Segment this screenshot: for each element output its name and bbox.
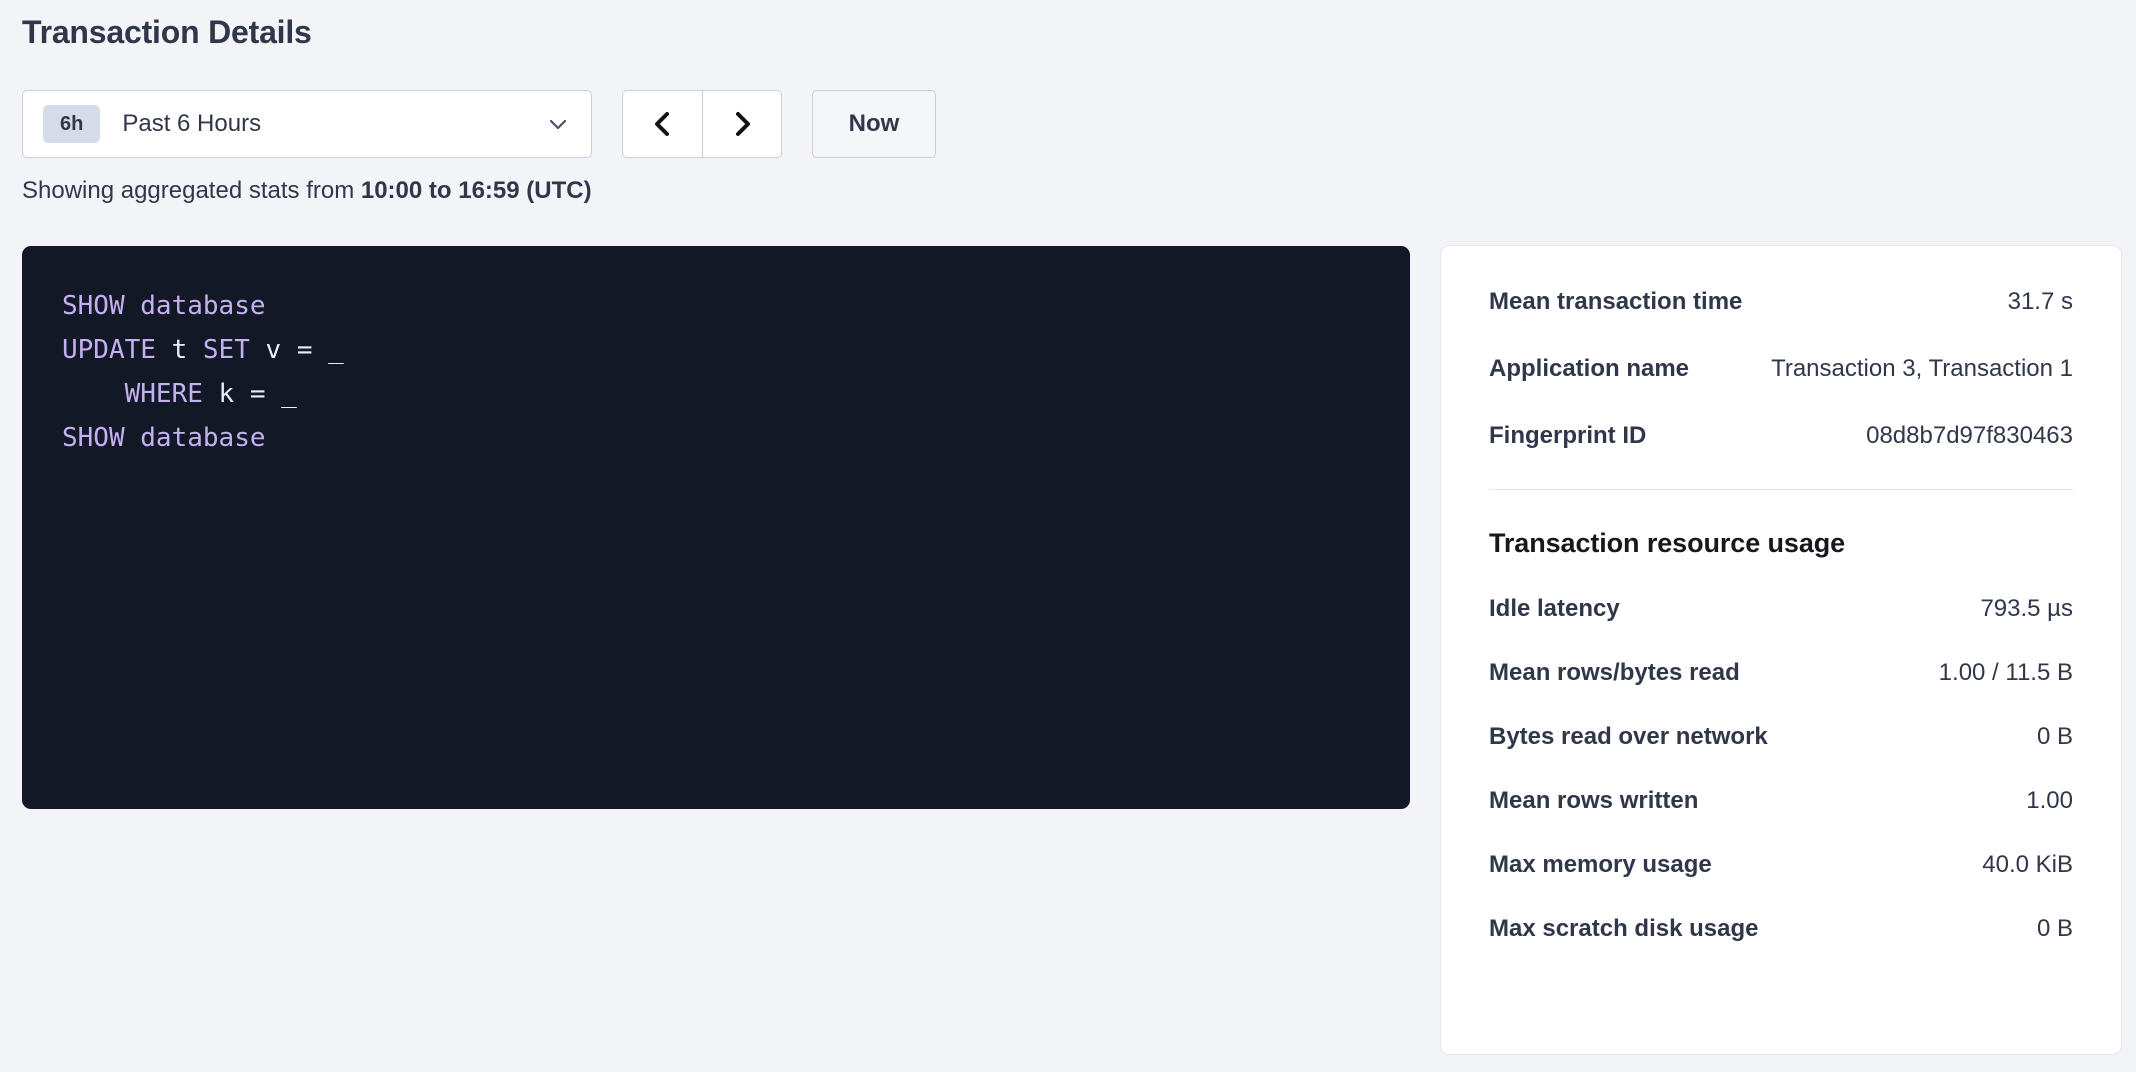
card-divider bbox=[1489, 489, 2073, 490]
time-range-label: Past 6 Hours bbox=[122, 110, 547, 138]
sql-code-panel[interactable]: SHOW database UPDATE t SET v = _ WHERE k… bbox=[22, 246, 1410, 809]
detail-row: Max scratch disk usage0 B bbox=[1489, 915, 2073, 943]
time-range-toolbar: 6h Past 6 Hours bbox=[22, 90, 936, 158]
detail-row-label: Mean rows/bytes read bbox=[1489, 659, 1740, 687]
previous-period-button[interactable] bbox=[622, 90, 702, 158]
sql-text bbox=[62, 379, 125, 409]
sql-keyword: SET bbox=[203, 335, 250, 365]
detail-row-label: Idle latency bbox=[1489, 595, 1620, 623]
summary-list: Mean transaction time31.7 sApplication n… bbox=[1489, 288, 2073, 450]
transaction-details-card: Mean transaction time31.7 sApplication n… bbox=[1440, 245, 2122, 1055]
resource-usage-list: Idle latency793.5 µsMean rows/bytes read… bbox=[1489, 595, 2073, 943]
detail-row-value: 40.0 KiB bbox=[1982, 851, 2073, 879]
sql-text: t bbox=[156, 335, 203, 365]
detail-row: Mean transaction time31.7 s bbox=[1489, 288, 2073, 316]
detail-row: Idle latency793.5 µs bbox=[1489, 595, 2073, 623]
detail-row-label: Max memory usage bbox=[1489, 851, 1712, 879]
detail-row: Mean rows written1.00 bbox=[1489, 787, 2073, 815]
detail-row: Fingerprint ID08d8b7d97f830463 bbox=[1489, 422, 2073, 450]
detail-row-value: 08d8b7d97f830463 bbox=[1866, 422, 2073, 450]
sql-keyword: SHOW bbox=[62, 291, 125, 321]
detail-row: Mean rows/bytes read1.00 / 11.5 B bbox=[1489, 659, 2073, 687]
chevron-down-icon bbox=[547, 113, 569, 135]
sql-keyword: database bbox=[140, 291, 265, 321]
sql-keyword: database bbox=[140, 423, 265, 453]
time-range-badge: 6h bbox=[43, 105, 100, 143]
detail-row-label: Application name bbox=[1489, 355, 1689, 383]
aggregation-range-text: Showing aggregated stats from 10:00 to 1… bbox=[22, 177, 592, 205]
detail-row-value: 0 B bbox=[2037, 915, 2073, 943]
detail-row-label: Mean rows written bbox=[1489, 787, 1698, 815]
time-nav-group bbox=[622, 90, 782, 158]
transaction-details-page: Transaction Details 6h Past 6 Hours bbox=[0, 0, 2136, 1072]
detail-row: Bytes read over network0 B bbox=[1489, 723, 2073, 751]
sql-keyword: UPDATE bbox=[62, 335, 156, 365]
resource-usage-heading: Transaction resource usage bbox=[1489, 528, 2073, 559]
sql-text bbox=[125, 423, 141, 453]
aggregation-prefix: Showing aggregated stats from bbox=[22, 177, 361, 204]
now-button[interactable]: Now bbox=[812, 90, 936, 158]
chevron-left-icon bbox=[648, 109, 678, 139]
sql-keyword: WHERE bbox=[125, 379, 203, 409]
detail-row-value: Transaction 3, Transaction 1 bbox=[1771, 355, 2073, 383]
aggregation-range: 10:00 to 16:59 (UTC) bbox=[361, 177, 592, 204]
detail-row-value: 793.5 µs bbox=[1980, 595, 2073, 623]
detail-row-label: Bytes read over network bbox=[1489, 723, 1768, 751]
detail-row: Max memory usage40.0 KiB bbox=[1489, 851, 2073, 879]
sql-text: v = _ bbox=[250, 335, 344, 365]
detail-row-label: Fingerprint ID bbox=[1489, 422, 1646, 450]
chevron-right-icon bbox=[727, 109, 757, 139]
detail-row-value: 1.00 bbox=[2026, 787, 2073, 815]
detail-row-value: 0 B bbox=[2037, 723, 2073, 751]
detail-row-value: 1.00 / 11.5 B bbox=[1939, 659, 2073, 687]
detail-row-value: 31.7 s bbox=[2008, 288, 2073, 316]
sql-code-block: SHOW database UPDATE t SET v = _ WHERE k… bbox=[62, 284, 1410, 460]
page-title: Transaction Details bbox=[22, 14, 312, 51]
sql-keyword: SHOW bbox=[62, 423, 125, 453]
time-range-select[interactable]: 6h Past 6 Hours bbox=[22, 90, 592, 158]
sql-text: k = _ bbox=[203, 379, 297, 409]
detail-row-label: Max scratch disk usage bbox=[1489, 915, 1758, 943]
detail-row-label: Mean transaction time bbox=[1489, 288, 1742, 316]
detail-row: Application nameTransaction 3, Transacti… bbox=[1489, 355, 2073, 383]
next-period-button[interactable] bbox=[702, 90, 782, 158]
sql-text bbox=[125, 291, 141, 321]
